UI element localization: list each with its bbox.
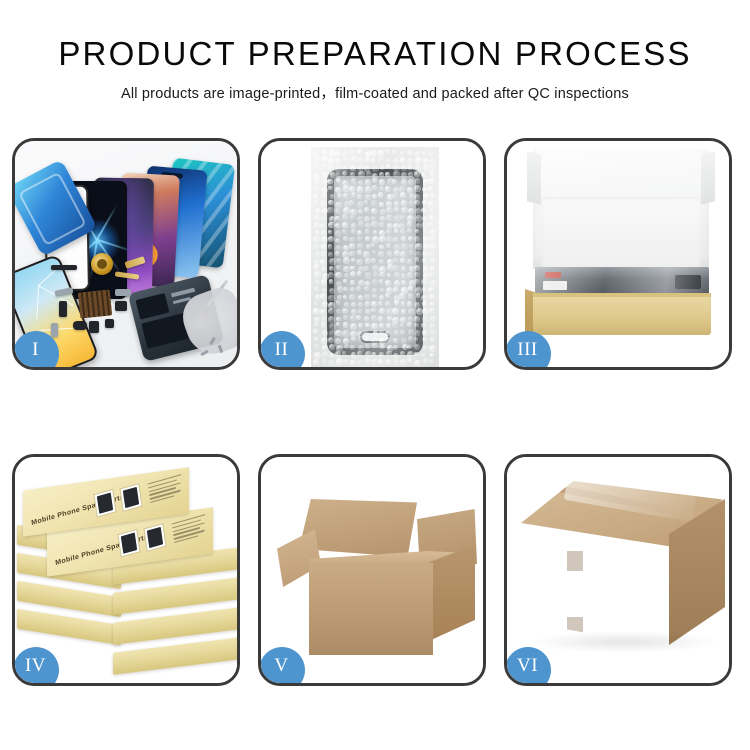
film-sheen bbox=[311, 147, 439, 367]
camera-module-icon bbox=[89, 321, 99, 333]
sim-tray-icon bbox=[51, 323, 58, 337]
step-badge-5: V bbox=[259, 647, 305, 686]
chip-square-icon bbox=[105, 319, 114, 328]
process-step-panel-2: II bbox=[258, 138, 486, 370]
page-subtitle: All products are image-printed，film-coat… bbox=[0, 82, 750, 103]
process-step-grid: 15:08 bbox=[12, 138, 738, 686]
process-step-panel-1: 15:08 bbox=[12, 138, 240, 370]
step-badge-4: IV bbox=[13, 647, 59, 686]
step-5-illustration bbox=[261, 457, 483, 683]
carton-shadow bbox=[529, 631, 719, 653]
ic-chip-array-icon bbox=[78, 289, 113, 318]
step-6-illustration bbox=[507, 457, 729, 683]
component-strip-icon bbox=[51, 265, 77, 270]
carton-front-icon bbox=[309, 563, 433, 655]
corrugated-carton-sealed-icon bbox=[521, 481, 723, 665]
step-3-illustration bbox=[507, 141, 729, 367]
step-badge-2: II bbox=[259, 331, 305, 370]
copper-coil-icon bbox=[91, 253, 113, 275]
process-step-panel-6: VI bbox=[504, 454, 732, 686]
process-step-panel-5: V bbox=[258, 454, 486, 686]
product-preparation-infographic: PRODUCT PREPARATION PROCESS All products… bbox=[0, 0, 750, 750]
connector-icon bbox=[115, 289, 131, 296]
corrugated-carton-open-icon bbox=[271, 479, 477, 669]
speaker-icon bbox=[73, 321, 87, 330]
step-4-illustration: Mobile Phone Spare Parts Mobile Phone Sp… bbox=[15, 457, 237, 683]
white-foam-insert-icon bbox=[541, 197, 701, 269]
step-1-illustration: 15:08 bbox=[15, 141, 237, 367]
step-badge-1: I bbox=[13, 331, 59, 370]
process-step-panel-4: Mobile Phone Spare Parts Mobile Phone Sp… bbox=[12, 454, 240, 686]
vibrator-icon bbox=[115, 301, 127, 311]
bubble-wrap-film-icon bbox=[311, 147, 439, 367]
step-badge-3: III bbox=[505, 331, 551, 370]
header: PRODUCT PREPARATION PROCESS All products… bbox=[0, 0, 750, 103]
step-2-illustration bbox=[261, 141, 483, 367]
step-badge-6: VI bbox=[505, 647, 551, 686]
kraft-box-front-icon bbox=[533, 293, 711, 335]
process-step-panel-3: III bbox=[504, 138, 732, 370]
component-small-icon bbox=[59, 301, 67, 317]
page-title: PRODUCT PREPARATION PROCESS bbox=[0, 36, 750, 72]
